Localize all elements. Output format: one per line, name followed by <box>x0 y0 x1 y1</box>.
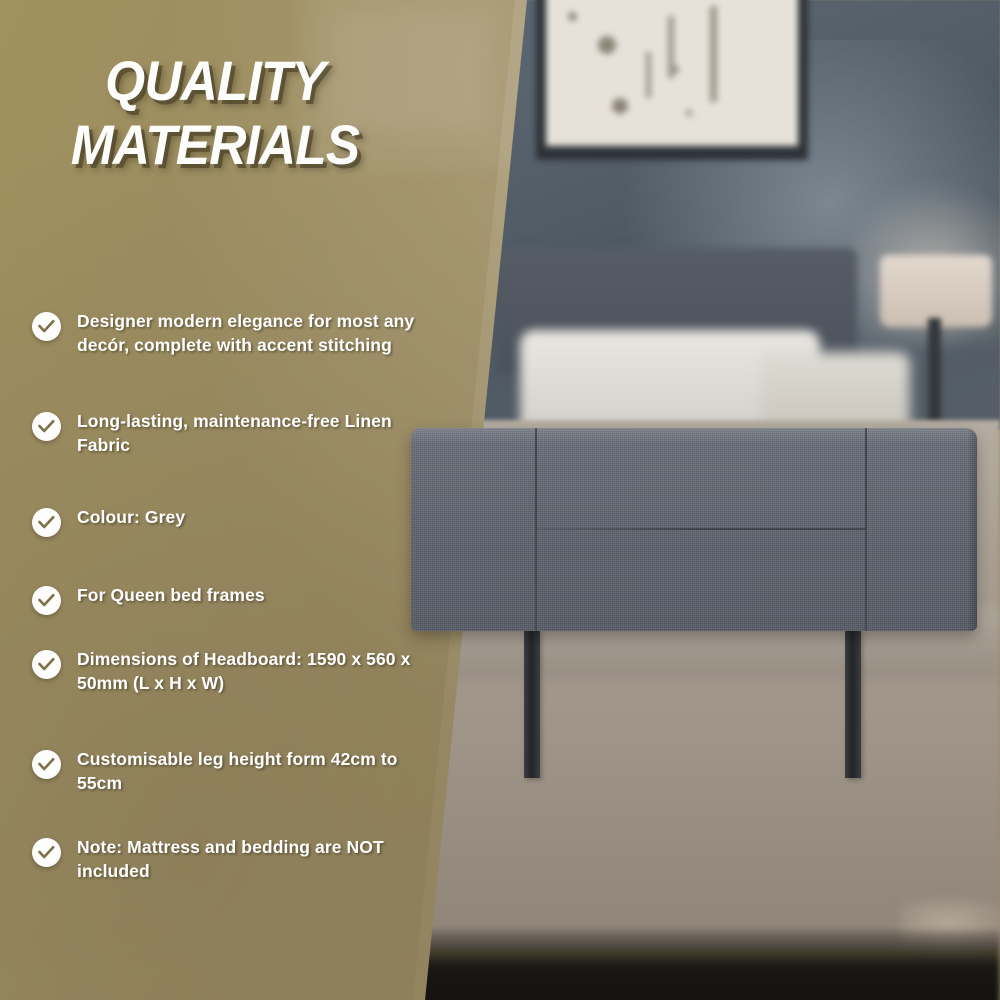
product-headboard <box>411 428 977 631</box>
check-circle-icon <box>32 312 61 341</box>
check-circle-icon <box>32 586 61 615</box>
headboard-leg-right <box>845 630 861 778</box>
check-circle-icon <box>32 750 61 779</box>
feature-item-colour: Colour: Grey <box>32 506 432 537</box>
feature-text-bed-size: For Queen bed frames <box>77 584 265 608</box>
title-line-2: MATERIALS <box>17 114 413 176</box>
title-line-1: QUALITY <box>17 50 413 112</box>
headboard-stitch-vertical-right <box>865 428 867 631</box>
headboard-leg-left <box>524 630 540 778</box>
check-circle-icon <box>32 838 61 867</box>
feature-item-design: Designer modern elegance for most any de… <box>32 310 432 357</box>
check-circle-icon <box>32 412 61 441</box>
headboard-stitch-horizontal <box>535 528 865 530</box>
feature-text-design: Designer modern elegance for most any de… <box>77 310 432 357</box>
headboard-top-sheen <box>411 428 977 444</box>
feature-text-dimensions: Dimensions of Headboard: 1590 x 560 x 50… <box>77 648 432 695</box>
check-circle-icon <box>32 508 61 537</box>
feature-text-colour: Colour: Grey <box>77 506 185 530</box>
feature-text-note: Note: Mattress and bedding are NOT inclu… <box>77 836 432 883</box>
feature-item-leg-height: Customisable leg height form 42cm to 55c… <box>32 748 432 795</box>
feature-item-bed-size: For Queen bed frames <box>32 584 432 615</box>
page-title: QUALITY MATERIALS <box>17 50 413 176</box>
headboard-right-edge-shade <box>967 428 977 631</box>
feature-item-note: Note: Mattress and bedding are NOT inclu… <box>32 836 432 883</box>
feature-item-fabric: Long-lasting, maintenance-free Linen Fab… <box>32 410 432 457</box>
feature-text-fabric: Long-lasting, maintenance-free Linen Fab… <box>77 410 432 457</box>
feature-text-leg-height: Customisable leg height form 42cm to 55c… <box>77 748 432 795</box>
product-feature-graphic: QUALITY MATERIALS Designer modern elegan… <box>0 0 1000 1000</box>
check-circle-icon <box>32 650 61 679</box>
feature-item-dimensions: Dimensions of Headboard: 1590 x 560 x 50… <box>32 648 432 695</box>
